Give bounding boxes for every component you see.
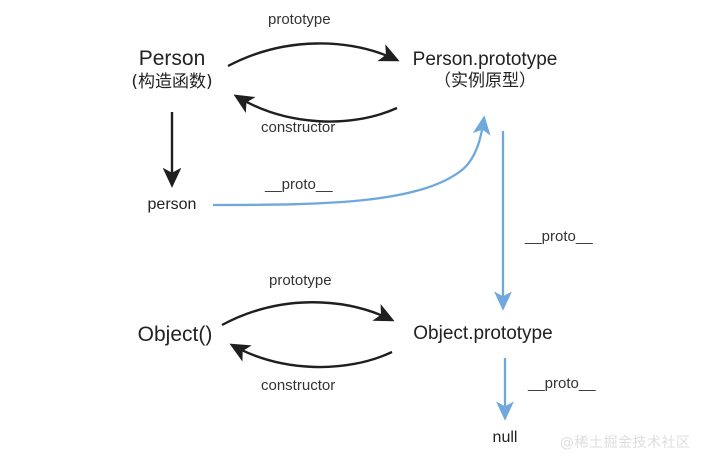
diagram-canvas: Person (构造函数) Person.prototype （实例原型） pe…	[0, 0, 710, 467]
node-person-constructor-line2: (构造函数)	[122, 72, 222, 93]
node-person-constructor-line1: Person	[122, 46, 222, 72]
node-person-instance: person	[132, 195, 212, 215]
node-object-constructor-label: Object()	[125, 322, 225, 348]
node-object-prototype: Object.prototype	[397, 322, 569, 345]
node-object-prototype-label: Object.prototype	[397, 322, 569, 345]
node-person-instance-label: person	[132, 195, 212, 215]
node-null-label: null	[480, 428, 530, 448]
edge-label-instance-proto: __proto__	[265, 176, 333, 193]
edge-label-object-prototype-proto: __proto__	[528, 375, 596, 392]
edge-label-prototype-proto: __proto__	[525, 228, 593, 245]
node-object-constructor: Object()	[125, 322, 225, 348]
arrow-prototype-to-object	[232, 345, 392, 367]
edge-label-object-constructor: constructor	[261, 377, 335, 394]
diagram-arrows	[0, 0, 710, 467]
edge-label-object-prototype: prototype	[269, 272, 332, 289]
watermark: @稀土掘金技术社区	[560, 432, 691, 452]
arrow-prototype-to-person	[236, 96, 397, 122]
edge-label-person-prototype: prototype	[268, 11, 331, 28]
arrow-person-to-prototype	[228, 43, 397, 66]
node-person-prototype: Person.prototype （实例原型）	[390, 48, 580, 92]
edge-label-prototype-constructor: constructor	[261, 119, 335, 136]
node-person-prototype-line1: Person.prototype	[390, 48, 580, 71]
node-person-constructor: Person (构造函数)	[122, 46, 222, 92]
node-person-prototype-line2: （实例原型）	[390, 71, 580, 92]
arrow-instance-proto	[213, 118, 484, 205]
arrow-object-to-prototype	[222, 302, 392, 325]
node-null: null	[480, 428, 530, 448]
